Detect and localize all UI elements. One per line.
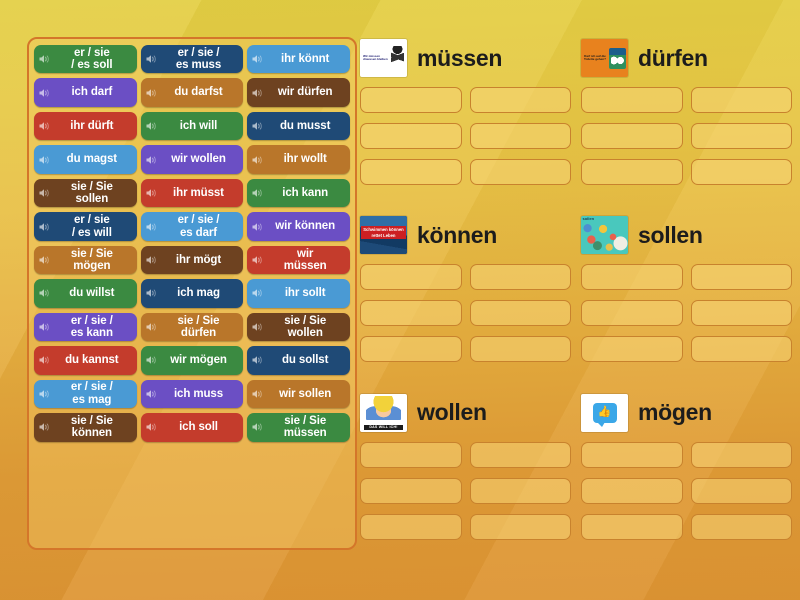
drop-slot[interactable] (691, 442, 793, 468)
word-tile-label: wir müssen (284, 248, 327, 273)
speaker-icon[interactable] (251, 254, 263, 266)
word-tile-label: du sollst (282, 354, 328, 366)
word-tile[interactable]: sie / Sie müssen (247, 413, 350, 441)
drop-slot[interactable] (581, 336, 683, 362)
speaker-icon[interactable] (145, 154, 157, 166)
drop-slot[interactable] (691, 478, 793, 504)
word-tile-label: wir sollen (279, 388, 331, 400)
word-tile[interactable]: er / sie / es darf (141, 212, 244, 240)
word-tile[interactable]: sie / Sie dürfen (141, 313, 244, 341)
word-tile[interactable]: wir mögen (141, 346, 244, 374)
drop-slot[interactable] (581, 123, 683, 149)
word-tile[interactable]: ihr dürft (34, 112, 137, 140)
word-tile-grid: er / sie / es soller / sie / es mussihr … (34, 45, 350, 542)
word-tile-label: ich kann (282, 187, 328, 199)
drop-slot-grid (360, 87, 571, 185)
word-tile-label: ihr könnt (281, 53, 329, 65)
drop-slot-grid (360, 264, 571, 362)
word-tile-label: wir mögen (170, 354, 227, 366)
drop-slot[interactable] (360, 336, 462, 362)
drop-slot[interactable] (470, 478, 572, 504)
drop-slot[interactable] (360, 442, 462, 468)
word-tile-panel: er / sie / es soller / sie / es mussihr … (27, 37, 357, 550)
word-tile[interactable]: du kannst (34, 346, 137, 374)
sollen-thumbnail: sollen (581, 216, 628, 254)
word-tile[interactable]: du sollst (247, 346, 350, 374)
word-tile[interactable]: er / sie / es muss (141, 45, 244, 73)
word-tile-label: sie / Sie können (71, 415, 113, 440)
word-tile-label: er / sie / es muss (176, 47, 221, 72)
speaker-icon[interactable] (38, 154, 50, 166)
word-tile-label: du magst (67, 153, 117, 165)
category-header: DAS WILL ICH!wollen (360, 387, 571, 439)
word-tile[interactable]: ich soll (141, 413, 244, 441)
drop-slot[interactable] (360, 300, 462, 326)
drop-slot-grid (360, 442, 571, 540)
drop-slot[interactable] (691, 87, 793, 113)
category-title: können (417, 222, 497, 249)
speaker-icon[interactable] (145, 120, 157, 132)
category-group: sollensollen (581, 209, 792, 374)
wollen-thumbnail: DAS WILL ICH! (360, 394, 407, 432)
speaker-icon[interactable] (38, 421, 50, 433)
word-tile[interactable]: ihr könnt (247, 45, 350, 73)
word-tile[interactable]: du darfst (141, 78, 244, 106)
word-tile-label: ich mag (177, 287, 220, 299)
category-group: 👍mögen (581, 387, 792, 552)
word-tile-label: du darfst (174, 86, 222, 98)
drop-slot[interactable] (581, 514, 683, 540)
speaker-icon[interactable] (38, 287, 50, 299)
word-tile[interactable]: du magst (34, 145, 137, 173)
drop-slot[interactable] (470, 300, 572, 326)
speaker-icon[interactable] (251, 87, 263, 99)
word-tile-label: sie / Sie wollen (284, 315, 326, 340)
speaker-icon[interactable] (38, 187, 50, 199)
drop-slot-grid (581, 264, 792, 362)
category-group: Darf ich auf die Toilette gehen?dürfen (581, 32, 792, 197)
thumbnail-caption: Darf ich auf die Toilette gehen? (583, 55, 607, 62)
word-tile[interactable]: wir sollen (247, 380, 350, 408)
category-header: sollensollen (581, 209, 792, 261)
speaker-icon[interactable] (38, 120, 50, 132)
drop-slot[interactable] (581, 264, 683, 290)
drop-slot[interactable] (470, 336, 572, 362)
word-tile[interactable]: ihr mögt (141, 246, 244, 274)
word-tile[interactable]: er / sie / es kann (34, 313, 137, 341)
word-tile[interactable]: er / sie / es soll (34, 45, 137, 73)
word-tile-label: er / sie / es darf (178, 214, 220, 239)
person-figure-icon (391, 46, 404, 70)
word-tile-label: du musst (280, 120, 330, 132)
word-tile-label: wir können (275, 220, 335, 232)
word-tile[interactable]: du willst (34, 279, 137, 307)
speaker-icon[interactable] (251, 421, 263, 433)
word-tile-label: ihr mögt (176, 254, 221, 266)
category-title: wollen (417, 399, 487, 426)
drop-slot[interactable] (470, 159, 572, 185)
drop-slot[interactable] (470, 264, 572, 290)
word-tile[interactable]: ich will (141, 112, 244, 140)
drop-slot[interactable] (691, 123, 793, 149)
toilet-sign-icon (609, 48, 626, 69)
speaker-icon[interactable] (251, 388, 263, 400)
speaker-icon[interactable] (145, 53, 157, 65)
drop-slot[interactable] (470, 442, 572, 468)
drop-slot-grid (581, 87, 792, 185)
word-tile-label: ihr wollt (284, 153, 327, 165)
thumbnail-caption: Schwimmen können rettet Leben (361, 226, 406, 239)
drop-slot[interactable] (360, 123, 462, 149)
word-tile[interactable]: ich darf (34, 78, 137, 106)
drop-slot[interactable] (581, 478, 683, 504)
word-tile-label: er / sie / es will (72, 214, 112, 239)
category-group: Schwimmen können rettet Lebenkönnen (360, 209, 571, 374)
drop-slot[interactable] (691, 336, 793, 362)
speaker-icon[interactable] (251, 354, 263, 366)
word-tile-label: wir wollen (171, 153, 226, 165)
word-tile[interactable]: er / sie / es will (34, 212, 137, 240)
word-tile[interactable]: ihr sollt (247, 279, 350, 307)
speaker-icon[interactable] (38, 354, 50, 366)
category-title: mögen (638, 399, 712, 426)
word-tile[interactable]: ich muss (141, 380, 244, 408)
category-header: 👍mögen (581, 387, 792, 439)
drop-slot[interactable] (470, 87, 572, 113)
word-tile-label: sie / Sie sollen (71, 181, 113, 206)
drop-slot[interactable] (581, 87, 683, 113)
word-tile[interactable]: ich mag (141, 279, 244, 307)
word-tile-label: sie / Sie müssen (284, 415, 327, 440)
drop-slot[interactable] (360, 159, 462, 185)
speaker-icon[interactable] (38, 221, 50, 233)
speaker-icon[interactable] (145, 287, 157, 299)
word-tile[interactable]: wir dürfen (247, 78, 350, 106)
word-tile-label: sie / Sie dürfen (178, 315, 220, 340)
word-tile-label: ich muss (174, 388, 223, 400)
drop-slot[interactable] (360, 514, 462, 540)
word-tile[interactable]: sie / Sie wollen (247, 313, 350, 341)
word-tile[interactable]: sie / Sie mögen (34, 246, 137, 274)
speaker-icon[interactable] (145, 421, 157, 433)
word-tile[interactable]: du musst (247, 112, 350, 140)
speaker-icon[interactable] (251, 187, 263, 199)
drop-slot[interactable] (470, 123, 572, 149)
koennen-thumbnail: Schwimmen können rettet Leben (360, 216, 407, 254)
speaker-icon[interactable] (38, 388, 50, 400)
category-title: dürfen (638, 45, 708, 72)
category-groups: Wir müssen draussen bleibenmüssenDarf ic… (360, 32, 792, 552)
muessen-thumbnail: Wir müssen draussen bleiben (360, 39, 407, 77)
category-group: Wir müssen draussen bleibenmüssen (360, 32, 571, 197)
word-tile[interactable]: wir können (247, 212, 350, 240)
speaker-icon[interactable] (145, 321, 157, 333)
word-tile-label: ich will (180, 120, 218, 132)
speaker-icon[interactable] (38, 87, 50, 99)
speaker-icon[interactable] (145, 221, 157, 233)
drop-slot[interactable] (581, 442, 683, 468)
category-header: Schwimmen können rettet Lebenkönnen (360, 209, 571, 261)
drop-slot[interactable] (581, 300, 683, 326)
word-tile[interactable]: wir wollen (141, 145, 244, 173)
word-tile[interactable]: ihr wollt (247, 145, 350, 173)
speaker-icon[interactable] (251, 120, 263, 132)
word-tile-label: sie / Sie mögen (71, 248, 113, 273)
drop-slot[interactable] (691, 159, 793, 185)
drop-slot[interactable] (691, 264, 793, 290)
speaker-icon[interactable] (251, 221, 263, 233)
drop-slot[interactable] (470, 514, 572, 540)
word-tile-label: du willst (69, 287, 114, 299)
speaker-icon[interactable] (145, 87, 157, 99)
drop-slot[interactable] (360, 87, 462, 113)
duerfen-thumbnail: Darf ich auf die Toilette gehen? (581, 39, 628, 77)
moegen-thumbnail: 👍 (581, 394, 628, 432)
category-header: Darf ich auf die Toilette gehen?dürfen (581, 32, 792, 84)
speaker-icon[interactable] (251, 53, 263, 65)
speaker-icon[interactable] (145, 354, 157, 366)
speaker-icon[interactable] (145, 388, 157, 400)
drop-slot[interactable] (360, 478, 462, 504)
word-tile[interactable]: wir müssen (247, 246, 350, 274)
speaker-icon[interactable] (251, 154, 263, 166)
word-tile-label: du kannst (65, 354, 118, 366)
word-tile-label: ich soll (179, 421, 218, 433)
speaker-icon[interactable] (145, 187, 157, 199)
word-tile-label: ihr dürft (70, 120, 113, 132)
thumbnail-caption: sollen (583, 217, 595, 222)
word-tile[interactable]: er / sie / es mag (34, 380, 137, 408)
word-tile-label: er / sie / es mag (71, 381, 113, 406)
drop-slot[interactable] (691, 300, 793, 326)
drop-slot[interactable] (581, 159, 683, 185)
word-tile-label: ihr sollt (285, 287, 326, 299)
drop-slot[interactable] (360, 264, 462, 290)
drop-slot[interactable] (691, 514, 793, 540)
category-header: Wir müssen draussen bleibenmüssen (360, 32, 571, 84)
drop-slot-grid (581, 442, 792, 540)
speaker-icon[interactable] (251, 287, 263, 299)
word-tile-label: wir dürfen (278, 86, 333, 98)
word-tile[interactable]: sie / Sie können (34, 413, 137, 441)
thumbs-up-icon: 👍 (598, 407, 612, 418)
speaker-icon[interactable] (38, 254, 50, 266)
activity-canvas: er / sie / es soller / sie / es mussihr … (0, 0, 800, 600)
speaker-icon[interactable] (145, 254, 157, 266)
word-tile[interactable]: ihr müsst (141, 179, 244, 207)
speaker-icon[interactable] (251, 321, 263, 333)
word-tile-label: ich darf (71, 86, 112, 98)
speaker-icon[interactable] (38, 321, 50, 333)
category-title: müssen (417, 45, 502, 72)
word-tile[interactable]: sie / Sie sollen (34, 179, 137, 207)
word-tile[interactable]: ich kann (247, 179, 350, 207)
word-tile-label: ihr müsst (173, 187, 224, 199)
thumbnail-caption: DAS WILL ICH! (364, 425, 403, 430)
category-group: DAS WILL ICH!wollen (360, 387, 571, 552)
thumbnail-caption: Wir müssen draussen bleiben (360, 55, 391, 62)
speech-bubble-icon: 👍 (593, 403, 617, 423)
word-tile-label: er / sie / es soll (71, 47, 112, 72)
speaker-icon[interactable] (38, 53, 50, 65)
category-title: sollen (638, 222, 703, 249)
word-tile-label: er / sie / es kann (71, 315, 113, 340)
